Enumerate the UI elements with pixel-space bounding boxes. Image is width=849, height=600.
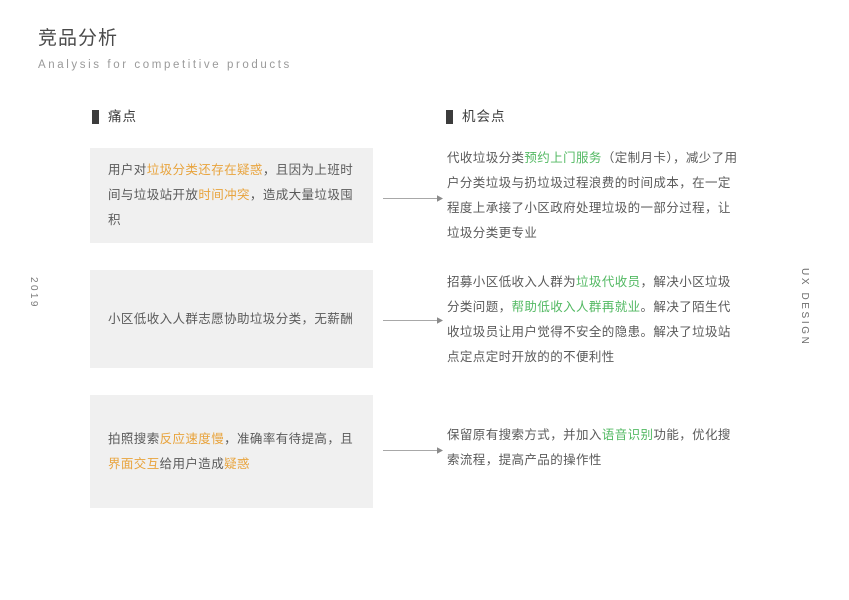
text-segment: 拍照搜索 — [108, 432, 160, 446]
highlighted-text-segment: 界面交互 — [108, 457, 160, 471]
pain-point-box: 拍照搜索反应速度慢，准确率有待提高，且界面交互给用户造成疑惑 — [90, 395, 373, 508]
pain-point-text: 用户对垃圾分类还存在疑惑，且因为上班时间与垃圾站开放时间冲突，造成大量垃圾囤积 — [108, 158, 355, 233]
highlighted-text-segment: 垃圾分类还存在疑惑 — [147, 163, 263, 177]
pain-point-text: 小区低收入人群志愿协助垃圾分类，无薪酬 — [108, 307, 353, 332]
arrow-right-icon — [383, 446, 444, 455]
opportunity-text: 代收垃圾分类预约上门服务（定制月卡），减少了用户分类垃圾与扔垃圾过程浪费的时间成… — [447, 146, 742, 246]
text-segment: 保留原有搜索方式，并加入 — [447, 428, 602, 442]
brand-side-label: UX DESIGN — [799, 268, 810, 346]
text-segment: ，准确率有待提高，且 — [224, 432, 353, 446]
column-header-pain-points: 痛点 — [92, 110, 137, 124]
column-header-label: 痛点 — [108, 110, 137, 124]
text-segment: 招募小区低收入人群为 — [447, 275, 576, 289]
highlighted-text-segment: 垃圾代收员 — [576, 275, 641, 289]
pain-point-box: 用户对垃圾分类还存在疑惑，且因为上班时间与垃圾站开放时间冲突，造成大量垃圾囤积 — [90, 148, 373, 243]
title-block: 竞品分析 Analysis for competitive products — [38, 26, 292, 75]
text-segment: 给用户造成 — [160, 457, 225, 471]
filled-square-icon — [92, 110, 99, 124]
year-side-label: 2019 — [28, 277, 39, 309]
text-segment: 用户对 — [108, 163, 147, 177]
filled-square-icon — [446, 110, 453, 124]
highlighted-text-segment: 语音识别 — [602, 428, 654, 442]
page-subtitle: Analysis for competitive products — [38, 55, 292, 75]
highlighted-text-segment: 疑惑 — [224, 457, 250, 471]
text-segment: 代收垃圾分类 — [447, 151, 524, 165]
arrow-right-icon — [383, 316, 444, 325]
arrow-right-icon — [383, 194, 444, 203]
highlighted-text-segment: 预约上门服务 — [524, 151, 601, 165]
highlighted-text-segment: 时间冲突 — [198, 188, 250, 202]
column-header-opportunities: 机会点 — [446, 110, 506, 124]
opportunity-text: 保留原有搜索方式，并加入语音识别功能，优化搜索流程，提高产品的操作性 — [447, 423, 742, 473]
opportunity-text: 招募小区低收入人群为垃圾代收员，解决小区垃圾分类问题，帮助低收入人群再就业。解决… — [447, 270, 742, 370]
pain-point-box: 小区低收入人群志愿协助垃圾分类，无薪酬 — [90, 270, 373, 368]
page-title: 竞品分析 — [38, 26, 292, 52]
highlighted-text-segment: 反应速度慢 — [160, 432, 225, 446]
column-header-label: 机会点 — [462, 110, 506, 124]
highlighted-text-segment: 帮助低收入人群再就业 — [512, 300, 641, 314]
pain-point-text: 拍照搜索反应速度慢，准确率有待提高，且界面交互给用户造成疑惑 — [108, 427, 355, 477]
text-segment: 小区低收入人群志愿协助垃圾分类，无薪酬 — [108, 312, 353, 326]
